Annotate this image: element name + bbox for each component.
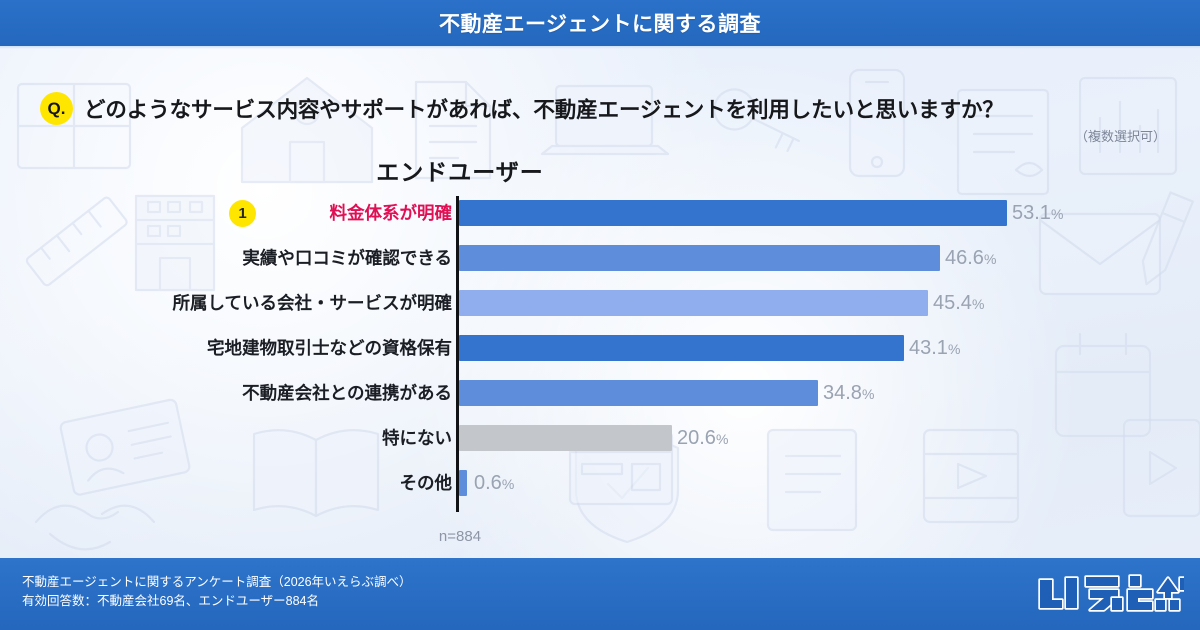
chart-title: エンドユーザー — [0, 153, 920, 187]
bar-0 — [459, 200, 1007, 226]
footer-line-1: 不動産エージェントに関するアンケート調査（2026年いえらぶ調べ） — [22, 573, 412, 592]
bar-2 — [459, 290, 928, 316]
table-row: 実績や口コミが確認できる 46.6% — [0, 241, 1200, 275]
bar-6 — [459, 470, 467, 496]
bar-value-number-6: 0.6 — [474, 472, 502, 494]
infographic-canvas: 不動産エージェントに関する調査 Q. どのようなサービス内容やサポートがあれば、… — [0, 0, 1200, 630]
question-text: どのようなサービス内容やサポートがあれば、不動産エージェントを利用したいと思いま… — [84, 93, 1004, 124]
bar-label-2: 所属している会社・サービスが明確 — [52, 286, 452, 320]
bar-value-unit-1: % — [984, 251, 996, 267]
bar-value-4: 34.8% — [823, 376, 874, 411]
bar-label-1: 実績や口コミが確認できる — [52, 241, 452, 275]
ielove-logo — [1034, 572, 1184, 616]
bar-label-6: その他 — [52, 466, 452, 500]
table-row: 宅地建物取引士などの資格保有 43.1% — [0, 331, 1200, 365]
bar-value-6: 0.6% — [474, 466, 514, 501]
footer-line-2: 有効回答数：不動産会社69名、エンドユーザー884名 — [22, 592, 412, 611]
bar-label-3: 宅地建物取引士などの資格保有 — [52, 331, 452, 365]
page-title: 不動産エージェントに関する調査 — [439, 8, 761, 38]
bar-value-2: 45.4% — [933, 286, 984, 321]
bar-value-0: 53.1% — [1012, 196, 1063, 231]
bar-value-number-0: 53.1 — [1012, 202, 1051, 224]
question-note: （複数選択可） — [1075, 126, 1166, 145]
bar-chart: 1 料金体系が明確 53.1% 実績や口コミが確認できる 46.6% 所属してい… — [0, 190, 1200, 520]
bar-value-number-2: 45.4 — [933, 292, 972, 314]
bar-1 — [459, 245, 940, 271]
bar-value-number-1: 46.6 — [945, 247, 984, 269]
bar-value-unit-0: % — [1051, 206, 1063, 222]
question-badge: Q. — [40, 92, 73, 125]
bar-value-number-3: 43.1 — [909, 337, 948, 359]
bar-value-number-5: 20.6 — [677, 427, 716, 449]
table-row: 特にない 20.6% — [0, 421, 1200, 455]
table-row: 1 料金体系が明確 53.1% — [0, 196, 1200, 230]
bar-value-unit-2: % — [972, 296, 984, 312]
bar-value-5: 20.6% — [677, 421, 728, 456]
header-sheen — [0, 46, 1200, 49]
bar-value-3: 43.1% — [909, 331, 960, 366]
bar-value-unit-3: % — [948, 341, 960, 357]
bar-value-unit-4: % — [862, 386, 874, 402]
footer-text: 不動産エージェントに関するアンケート調査（2026年いえらぶ調べ） 有効回答数：… — [22, 573, 412, 611]
bar-5 — [459, 425, 672, 451]
bar-value-1: 46.6% — [945, 241, 996, 276]
table-row: 不動産会社との連携がある 34.8% — [0, 376, 1200, 410]
bar-value-number-4: 34.8 — [823, 382, 862, 404]
bar-label-4: 不動産会社との連携がある — [52, 376, 452, 410]
sample-size-label: n=884 — [400, 528, 520, 545]
question-row: Q. どのようなサービス内容やサポートがあれば、不動産エージェントを利用したいと… — [40, 90, 1170, 126]
bar-label-5: 特にない — [52, 421, 452, 455]
table-row: その他 0.6% — [0, 466, 1200, 500]
header-bar: 不動産エージェントに関する調査 — [0, 0, 1200, 46]
bar-value-unit-5: % — [716, 431, 728, 447]
footer-bar: 不動産エージェントに関するアンケート調査（2026年いえらぶ調べ） 有効回答数：… — [0, 558, 1200, 630]
bar-value-unit-6: % — [502, 476, 514, 492]
table-row: 所属している会社・サービスが明確 45.4% — [0, 286, 1200, 320]
bar-3 — [459, 335, 904, 361]
bar-4 — [459, 380, 818, 406]
bar-label-0: 料金体系が明確 — [52, 196, 452, 230]
